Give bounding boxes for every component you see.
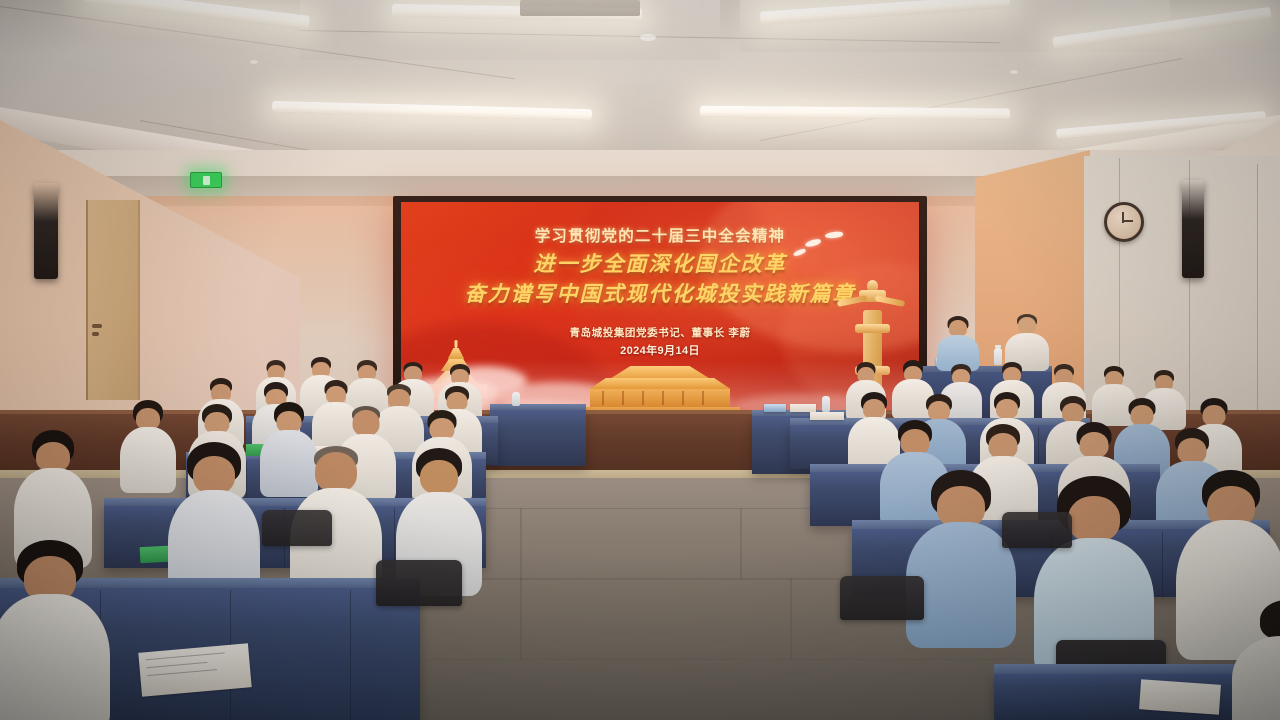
bottle-cap bbox=[995, 345, 1001, 348]
attendee bbox=[1232, 600, 1280, 720]
attendee bbox=[906, 470, 1016, 650]
door-handle-icon[interactable] bbox=[92, 324, 102, 328]
water-bottle bbox=[822, 396, 830, 412]
document bbox=[1139, 679, 1221, 715]
chair bbox=[840, 576, 924, 620]
conference-room-photo: 学习贯彻党的二十届三中全会精神 进一步全面深化国企改革 奋力谱写中国式现代化城投… bbox=[0, 0, 1280, 720]
wall-speaker bbox=[1182, 180, 1204, 278]
document bbox=[810, 412, 844, 420]
door-lock-icon bbox=[92, 332, 99, 336]
audience-table bbox=[490, 410, 586, 466]
nameplate bbox=[764, 404, 786, 412]
document bbox=[790, 404, 816, 412]
door bbox=[86, 200, 140, 400]
screen-line-1: 学习贯彻党的二十届三中全会精神 bbox=[401, 224, 919, 246]
chair bbox=[262, 510, 332, 546]
screen-line-2: 进一步全面深化国企改革 bbox=[401, 248, 919, 278]
smoke-detector bbox=[250, 60, 258, 64]
chair bbox=[376, 560, 462, 606]
smoke-detector bbox=[1010, 70, 1018, 74]
attendee bbox=[0, 540, 110, 720]
exit-sign bbox=[190, 172, 222, 188]
clock-hand-minute bbox=[1123, 220, 1133, 222]
wall-clock bbox=[1104, 202, 1144, 242]
exit-pictogram-icon bbox=[203, 176, 210, 185]
smoke-detector bbox=[640, 34, 656, 41]
chair bbox=[1002, 512, 1072, 548]
air-vent bbox=[520, 0, 640, 16]
water-bottle bbox=[512, 392, 520, 406]
wall-speaker bbox=[34, 183, 58, 279]
